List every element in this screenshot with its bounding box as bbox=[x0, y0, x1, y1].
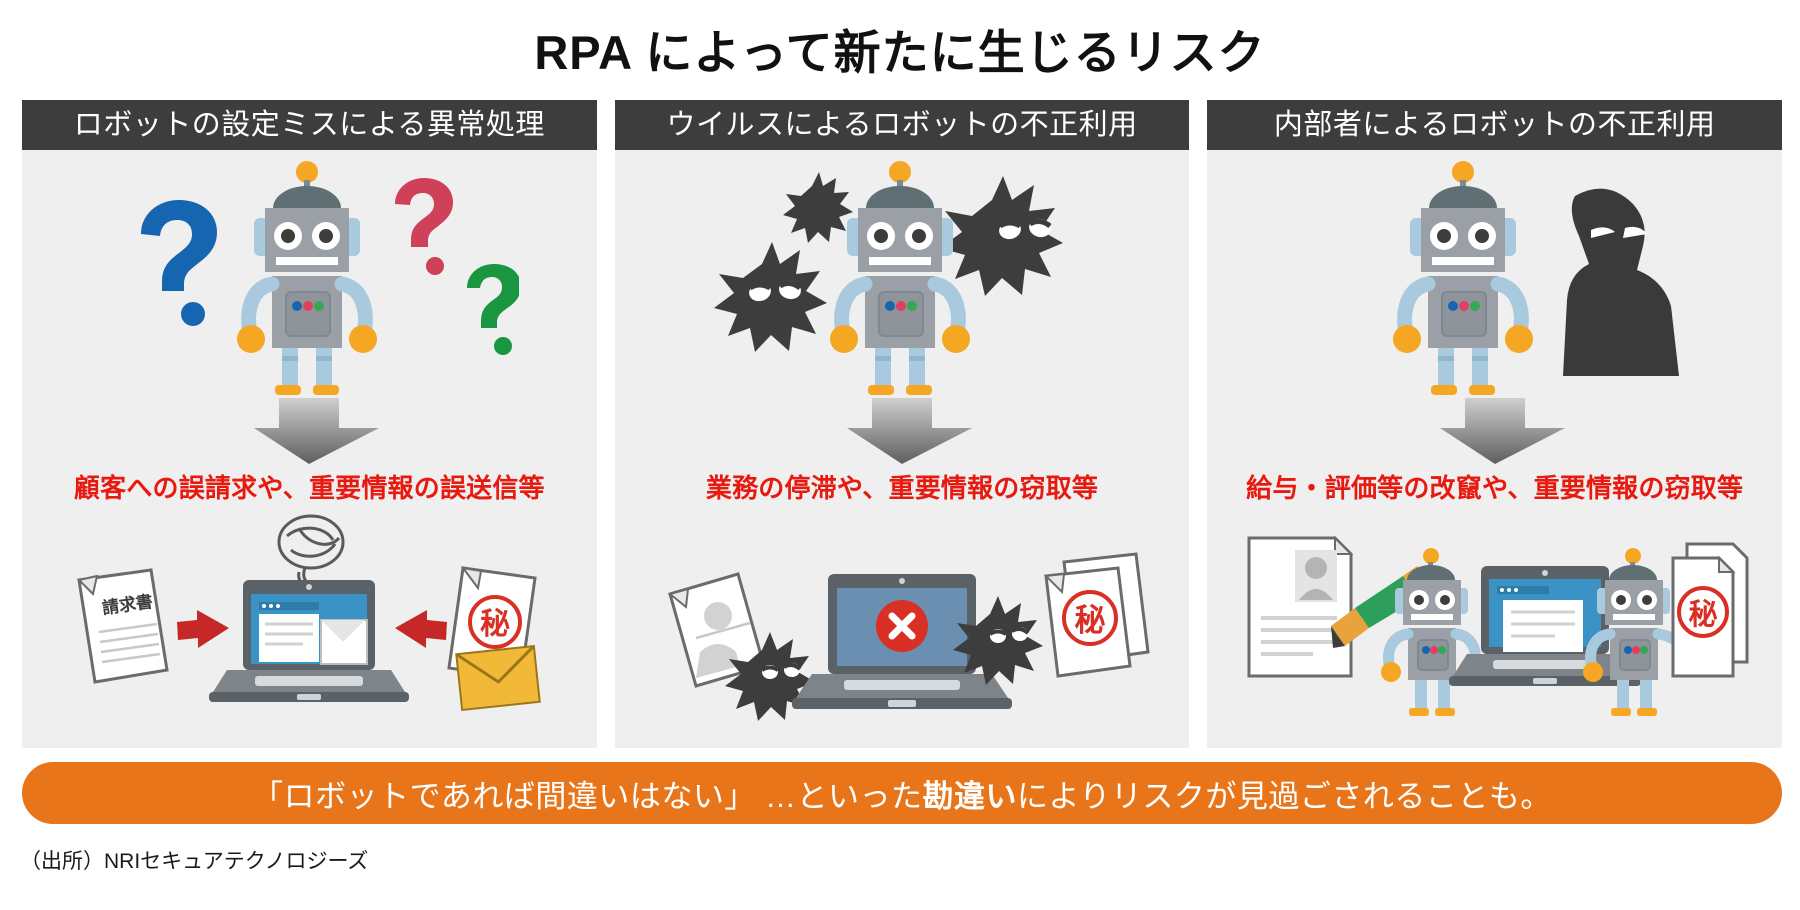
secret-document: 秘 bbox=[1673, 544, 1747, 676]
robot-hand-left bbox=[830, 325, 858, 353]
scene-robot-question-marks bbox=[22, 150, 597, 400]
robot-eye-right bbox=[319, 229, 333, 243]
robot-mouth bbox=[276, 257, 338, 265]
banner-text-part1: 「ロボットであれば間違いはない」 …といった bbox=[252, 771, 922, 816]
robot-arm-left bbox=[1404, 284, 1427, 332]
risk-text-2: 業務の停滞や、重要情報の窃取等 bbox=[615, 468, 1190, 505]
profile-document bbox=[1249, 538, 1351, 676]
secret-seal-label: 秘 bbox=[480, 608, 510, 641]
robot-antenna-ball bbox=[296, 161, 318, 183]
invoice-document: 請求書 bbox=[79, 570, 167, 682]
robot-eye-right bbox=[1475, 229, 1489, 243]
robot-eye-left bbox=[281, 229, 295, 243]
panels-container: ロボットの設定ミスによる異常処理 bbox=[22, 100, 1782, 748]
virus-small-icon bbox=[783, 172, 853, 243]
robot-hand-left bbox=[237, 325, 265, 353]
panel-virus-misuse: ウイルスによるロボットの不正利用 bbox=[615, 100, 1190, 748]
panel-robot-misconfiguration: ロボットの設定ミスによる異常処理 bbox=[22, 100, 597, 748]
question-mark-green bbox=[467, 264, 519, 355]
panel-body-2: 業務の停滞や、重要情報の窃取等 bbox=[615, 150, 1190, 748]
robot-hand-right bbox=[942, 325, 970, 353]
robot-hand-left bbox=[1393, 325, 1421, 353]
robot-eye-left bbox=[1437, 229, 1451, 243]
robot-eye-left bbox=[874, 229, 888, 243]
robot-arm-right bbox=[342, 284, 365, 332]
robot-illustration bbox=[1393, 161, 1533, 395]
risk-text-1: 顧客への誤請求や、重要情報の誤送信等 bbox=[22, 468, 597, 505]
virus-large-left-icon bbox=[714, 242, 827, 352]
scene-robot-insider bbox=[1207, 150, 1782, 400]
robot-arm-left bbox=[842, 284, 865, 332]
robot-illustration bbox=[237, 161, 377, 395]
scene-invoice-laptop-email: 請求書 bbox=[22, 510, 597, 740]
robot-mouth bbox=[1432, 257, 1494, 265]
secret-seal-label: 秘 bbox=[1688, 598, 1717, 631]
robot-small-left bbox=[1381, 548, 1485, 716]
robot-illustration bbox=[830, 161, 970, 395]
arrow-left-red bbox=[177, 610, 229, 648]
question-mark-red bbox=[395, 178, 453, 275]
panel-insider-misuse: 内部者によるロボットの不正利用 bbox=[1207, 100, 1782, 748]
robot-eye-right bbox=[912, 229, 926, 243]
panel-header-3: 内部者によるロボットの不正利用 bbox=[1207, 100, 1782, 150]
conclusion-banner: 「ロボットであれば間違いはない」 …といった 勘違い によりリスクが見過ごされる… bbox=[22, 762, 1782, 824]
robot-mouth bbox=[869, 257, 931, 265]
source-attribution: （出所）NRIセキュアテクノロジーズ bbox=[20, 845, 368, 875]
confusion-scribble-icon bbox=[279, 516, 343, 586]
secret-seal-label: 秘 bbox=[1075, 603, 1106, 638]
question-mark-blue bbox=[141, 200, 217, 326]
robot-arm-right bbox=[935, 284, 958, 332]
down-arrow-1 bbox=[22, 398, 597, 468]
risk-text-3: 給与・評価等の改竄や、重要情報の窃取等 bbox=[1207, 468, 1782, 505]
scene-robot-viruses bbox=[615, 150, 1190, 400]
page-title: RPA によって新たに生じるリスク bbox=[0, 14, 1800, 83]
scene-tamper-robots-laptop: 秘 bbox=[1207, 510, 1782, 740]
laptop-illustration bbox=[209, 580, 409, 702]
secret-document: 秘 bbox=[1046, 554, 1148, 676]
robot-hand-right bbox=[1505, 325, 1533, 353]
robot-hand-right bbox=[349, 325, 377, 353]
scene-virus-laptop-error: 秘 bbox=[615, 510, 1190, 740]
panel-header-2: ウイルスによるロボットの不正利用 bbox=[615, 100, 1190, 150]
envelope-icon bbox=[457, 646, 540, 710]
robot-chest-panel bbox=[286, 292, 330, 336]
panel-body-1: 顧客への誤請求や、重要情報の誤送信等 請求書 bbox=[22, 150, 597, 748]
robot-antenna-ball bbox=[889, 161, 911, 183]
infographic-page: RPA によって新たに生じるリスク ロボットの設定ミスによる異常処理 bbox=[0, 0, 1800, 910]
robot-chest-panel bbox=[879, 292, 923, 336]
robot-antenna-ball bbox=[1452, 161, 1474, 183]
robot-chest-panel bbox=[1442, 292, 1486, 336]
arrow-right-red bbox=[395, 610, 447, 648]
robot-arm-left bbox=[249, 284, 272, 332]
down-arrow-3 bbox=[1207, 398, 1782, 468]
insider-silhouette bbox=[1563, 189, 1679, 376]
virus-large-right-icon bbox=[940, 176, 1063, 296]
robot-arm-right bbox=[1498, 284, 1521, 332]
banner-text-part2: によりリスクが見過ごされることも。 bbox=[1017, 771, 1552, 816]
banner-emphasis: 勘違い bbox=[922, 771, 1017, 816]
panel-header-1: ロボットの設定ミスによる異常処理 bbox=[22, 100, 597, 150]
panel-body-3: 給与・評価等の改竄や、重要情報の窃取等 bbox=[1207, 150, 1782, 748]
down-arrow-2 bbox=[615, 398, 1190, 468]
